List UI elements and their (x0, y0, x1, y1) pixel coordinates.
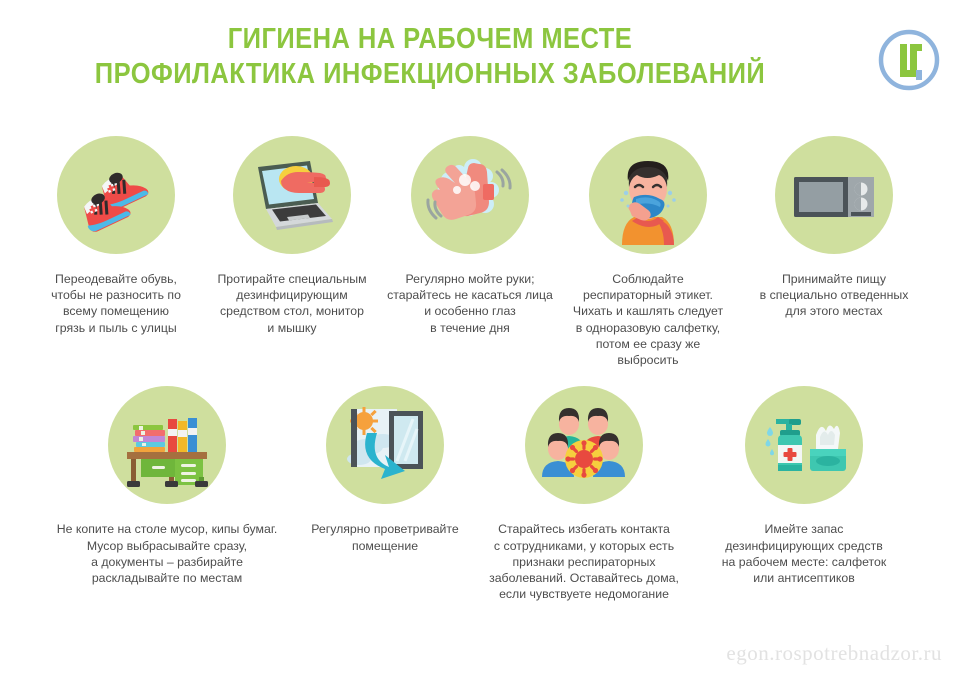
tip-icon-circle (745, 386, 863, 504)
tip-card-laptop-wipe: Протирайте специальным дезинфицирующим с… (204, 136, 380, 336)
tip-icon-circle (525, 386, 643, 504)
tip-icon-circle (57, 136, 175, 254)
tips-grid: Переодевайте обувь, чтобы не разносить п… (0, 118, 960, 602)
tip-text: Переодевайте обувь, чтобы не разносить п… (51, 271, 181, 336)
tip-icon-circle (411, 136, 529, 254)
tip-text: Регулярно мойте руки; старайтесь не каса… (387, 271, 553, 336)
tip-text: Регулярно проветривайте помещение (311, 521, 459, 553)
laptop-wipe-icon (244, 147, 340, 243)
tip-card-desk-tidy: Не копите на столе мусор, кипы бумаг. Му… (42, 386, 292, 586)
page-title-line-1: ГИГИЕНА НА РАБОЧЕМ МЕСТЕ (52, 22, 809, 57)
tip-text: Принимайте пищу в специально отведенных … (760, 271, 909, 320)
tip-card-hand-washing: Регулярно мойте руки; старайтесь не каса… (380, 136, 560, 336)
tip-text: Протирайте специальным дезинфицирующим с… (217, 271, 366, 336)
tip-text: Имейте запас дезинфицирующих средств на … (722, 521, 886, 586)
tip-card-ventilation: Регулярно проветривайте помещение (292, 386, 478, 553)
hand-washing-icon (421, 146, 519, 244)
tip-text: Соблюдайте респираторный этикет. Чихать … (573, 271, 723, 368)
open-window-airflow-icon (337, 397, 433, 493)
microwave-icon (788, 149, 880, 241)
tip-card-sanitizer-supply: Имейте запас дезинфицирующих средств на … (690, 386, 918, 586)
rospotrebnadzor-logo (876, 27, 942, 93)
tip-icon-circle (233, 136, 351, 254)
tip-icon-circle (775, 136, 893, 254)
tip-text: Старайтесь избегать контакта с сотрудник… (489, 521, 679, 602)
tip-icon-circle (326, 386, 444, 504)
tip-icon-circle (108, 386, 226, 504)
tips-row-2: Не копите на столе мусор, кипы бумаг. Му… (0, 368, 960, 602)
page-title-line-2: ПРОФИЛАКТИКА ИНФЕКЦИОННЫХ ЗАБОЛЕВАНИЙ (52, 57, 809, 92)
page-title: ГИГИЕНА НА РАБОЧЕМ МЕСТЕ ПРОФИЛАКТИКА ИН… (0, 22, 860, 93)
watermark: egon.rospotrebnadzor.ru (726, 641, 942, 666)
tip-card-microwave: Принимайте пищу в специально отведенных … (736, 136, 932, 320)
people-infection-icon (536, 397, 632, 493)
tip-text: Не копите на столе мусор, кипы бумаг. Му… (57, 521, 278, 586)
tip-icon-circle (589, 136, 707, 254)
tip-card-avoid-contact: Старайтесь избегать контакта с сотрудник… (478, 386, 690, 602)
sneezing-person-icon (598, 145, 698, 245)
tip-card-sneakers: Переодевайте обувь, чтобы не разносить п… (28, 136, 204, 336)
tip-card-respiratory-etiquette: Соблюдайте респираторный этикет. Чихать … (560, 136, 736, 368)
page-header: ГИГИЕНА НА РАБОЧЕМ МЕСТЕ ПРОФИЛАКТИКА ИН… (0, 0, 960, 118)
sanitizer-and-wipes-icon (756, 397, 852, 493)
sneakers-icon (70, 149, 162, 241)
desk-with-folders-icon (119, 397, 215, 493)
tips-row-1: Переодевайте обувь, чтобы не разносить п… (0, 118, 960, 368)
